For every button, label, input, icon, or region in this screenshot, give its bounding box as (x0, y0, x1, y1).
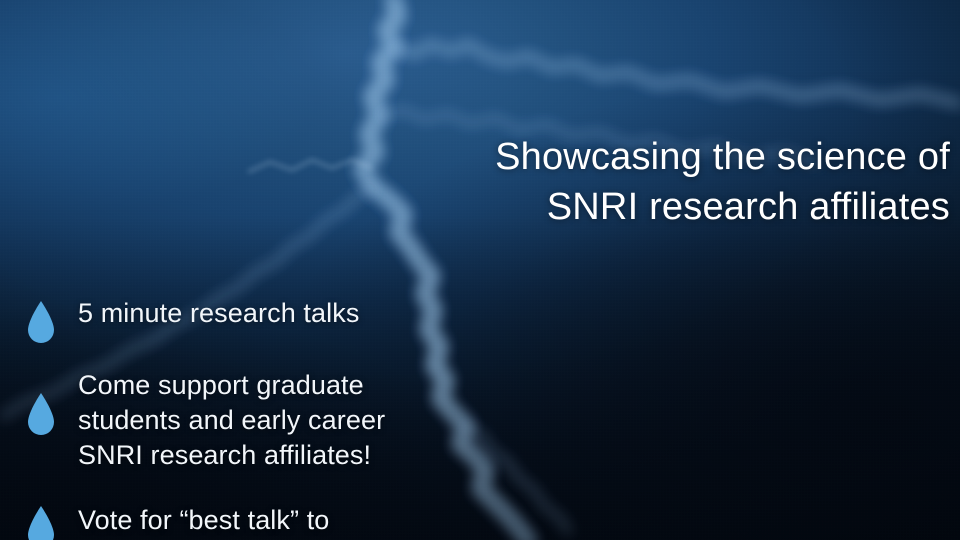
bullet-2-line-3: SNRI research affiliates! (78, 438, 385, 473)
bullet-1-line-1: 5 minute research talks (78, 296, 359, 331)
water-droplet-icon (26, 505, 56, 540)
bullet-2-line-2: students and early career (78, 403, 385, 438)
title-line-1: Showcasing the science of (430, 132, 950, 182)
bullet-item-3-text: Vote for “best talk” to (78, 503, 329, 538)
bullet-2-line-1: Come support graduate (78, 368, 385, 403)
slide-title: Showcasing the science of SNRI research … (430, 132, 950, 232)
bullet-item-3: Vote for “best talk” to (26, 503, 426, 540)
bullet-item-1: 5 minute research talks (26, 296, 426, 346)
water-droplet-icon (26, 300, 56, 346)
presentation-slide: Showcasing the science of SNRI research … (0, 0, 960, 540)
title-line-2: SNRI research affiliates (430, 182, 950, 232)
bullet-3-line-1: Vote for “best talk” to (78, 503, 329, 538)
bullet-item-2-text: Come support graduate students and early… (78, 368, 385, 473)
bullet-item-1-text: 5 minute research talks (78, 296, 359, 331)
water-droplet-icon (26, 392, 56, 438)
bullet-list: 5 minute research talks Come support gra… (26, 296, 426, 540)
bullet-item-2: Come support graduate students and early… (26, 368, 426, 473)
